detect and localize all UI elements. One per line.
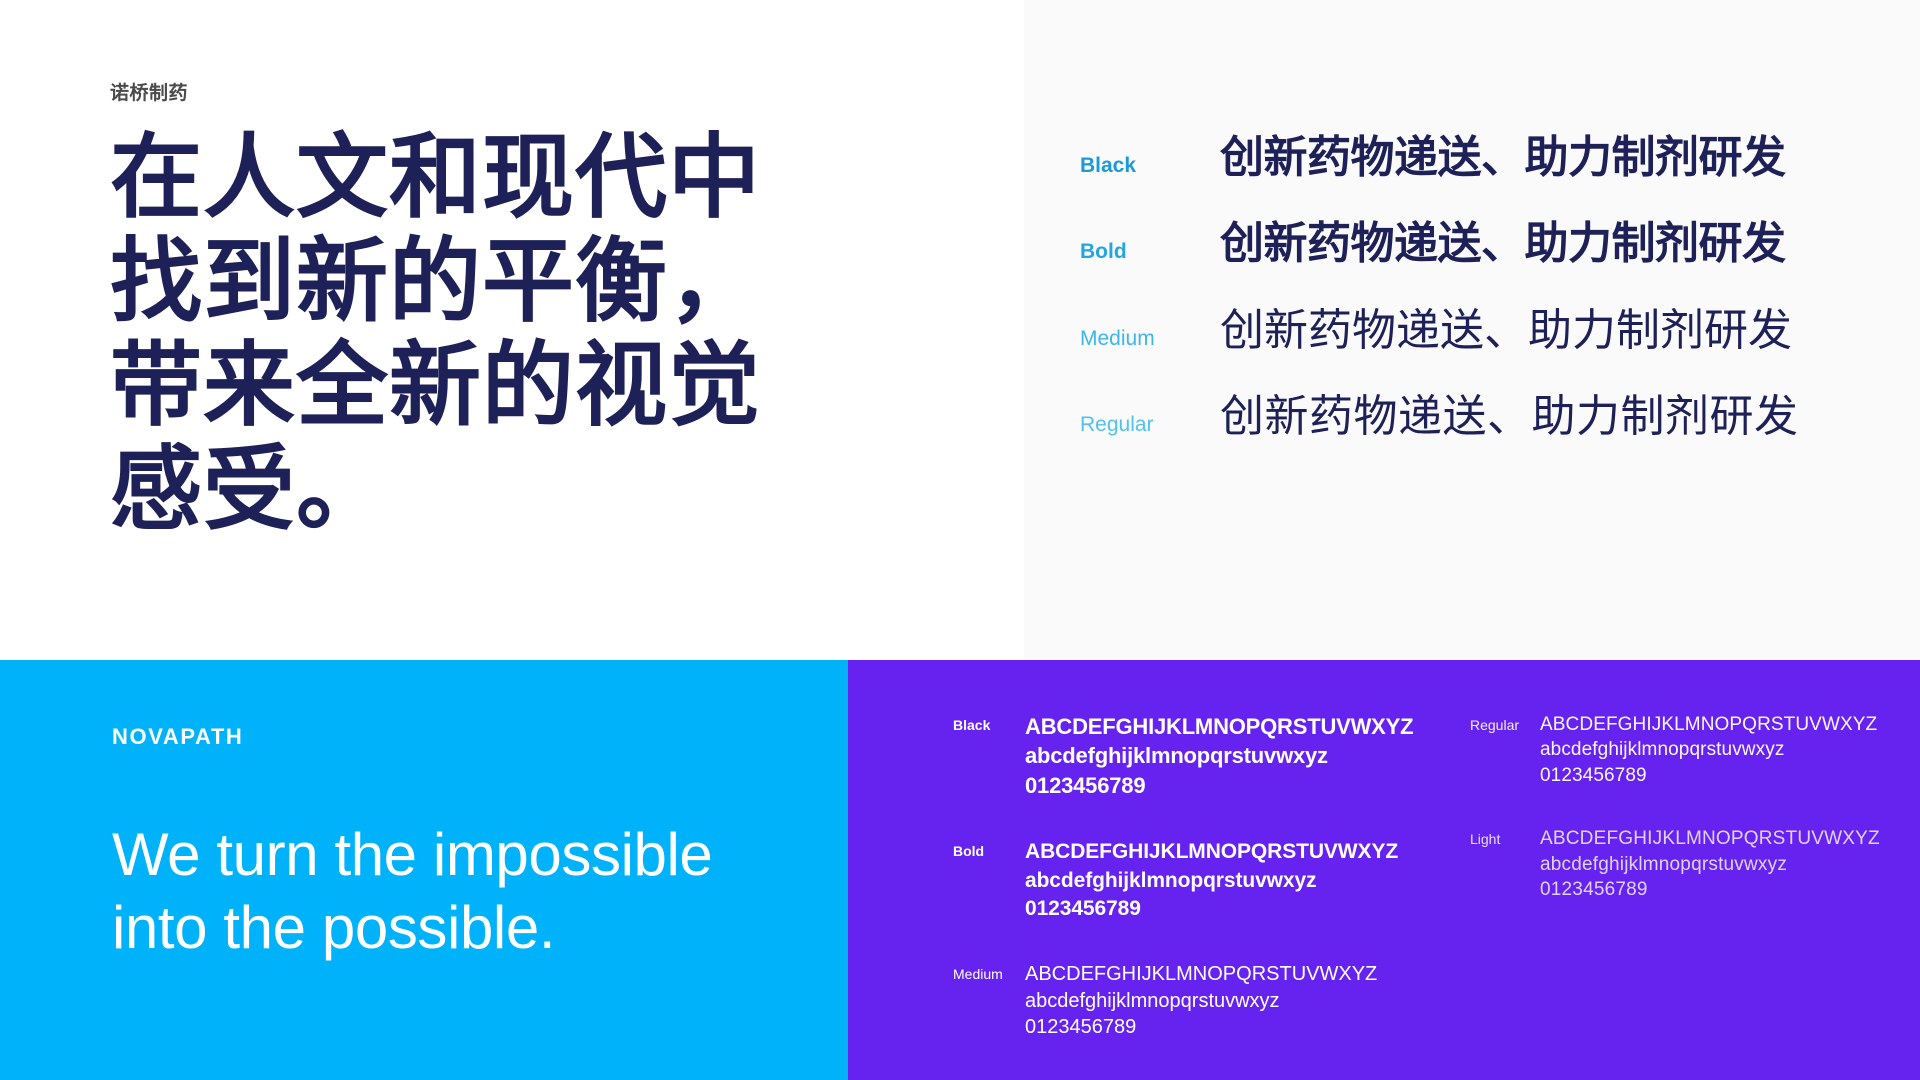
slogan-panel: NOVAPATH We turn the impossible into the… (0, 660, 848, 1080)
latin-uppercase-black: ABCDEFGHIJKLMNOPQRSTUVWXYZ (1025, 712, 1413, 741)
cjk-specimen-bold: 创新药物递送、助力制剂研发 (1220, 216, 1786, 272)
latin-specimen-regular: ABCDEFGHIJKLMNOPQRSTUVWXYZ abcdefghijklm… (1540, 712, 1877, 788)
latin-lowercase-black: abcdefghijklmnopqrstuvwxyz (1025, 741, 1413, 770)
brand-typography-board: 诺桥制药 在人文和现代中找到新的平衡，带来全新的视觉感受。 Black 创新药物… (0, 0, 1920, 1080)
latin-specimen-black: ABCDEFGHIJKLMNOPQRSTUVWXYZ abcdefghijklm… (1025, 712, 1413, 800)
cjk-weight-row-medium: Medium 创新药物递送、助力制剂研发 (1024, 303, 1920, 359)
latin-digits-black: 0123456789 (1025, 771, 1413, 800)
cjk-weight-row-black: Black 创新药物递送、助力制剂研发 (1024, 130, 1920, 186)
latin-specimen-bold: ABCDEFGHIJKLMNOPQRSTUVWXYZ abcdefghijklm… (1025, 838, 1398, 922)
latin-uppercase-medium: ABCDEFGHIJKLMNOPQRSTUVWXYZ (1025, 961, 1377, 988)
latin-specimen-medium: ABCDEFGHIJKLMNOPQRSTUVWXYZ abcdefghijklm… (1025, 961, 1377, 1041)
latin-digits-medium: 0123456789 (1025, 1014, 1377, 1041)
latin-column-right: Regular ABCDEFGHIJKLMNOPQRSTUVWXYZ abcde… (1460, 712, 1920, 1080)
latin-specimen-light: ABCDEFGHIJKLMNOPQRSTUVWXYZ abcdefghijklm… (1540, 826, 1880, 902)
latin-weight-row-bold: Bold ABCDEFGHIJKLMNOPQRSTUVWXYZ abcdefgh… (953, 838, 1460, 922)
cjk-weight-label-regular: Regular (1080, 413, 1220, 437)
latin-uppercase-bold: ABCDEFGHIJKLMNOPQRSTUVWXYZ (1025, 838, 1398, 866)
latin-weight-label-regular: Regular (1470, 712, 1540, 733)
latin-digits-regular: 0123456789 (1540, 763, 1877, 788)
cjk-weight-label-medium: Medium (1080, 327, 1220, 351)
latin-column-left: Black ABCDEFGHIJKLMNOPQRSTUVWXYZ abcdefg… (848, 712, 1460, 1080)
latin-weight-label-black: Black (953, 712, 1025, 733)
cjk-weight-label-black: Black (1080, 154, 1220, 178)
cjk-weight-label-bold: Bold (1080, 240, 1220, 264)
cjk-specimen-medium: 创新药物递送、助力制剂研发 (1220, 303, 1792, 359)
chinese-headline: 在人文和现代中找到新的平衡，带来全新的视觉感受。 (110, 127, 810, 543)
latin-uppercase-regular: ABCDEFGHIJKLMNOPQRSTUVWXYZ (1540, 712, 1877, 737)
cjk-weight-row-regular: Regular 创新药物递送、助力制剂研发 (1024, 389, 1920, 445)
cjk-specimen-black: 创新药物递送、助力制剂研发 (1220, 130, 1786, 186)
latin-weight-label-light: Light (1470, 826, 1540, 847)
latin-lowercase-medium: abcdefghijklmnopqrstuvwxyz (1025, 988, 1377, 1015)
latin-weight-row-regular: Regular ABCDEFGHIJKLMNOPQRSTUVWXYZ abcde… (1470, 712, 1920, 788)
chinese-weight-specimen-panel: Black 创新药物递送、助力制剂研发 Bold 创新药物递送、助力制剂研发 M… (1024, 0, 1920, 660)
latin-lowercase-light: abcdefghijklmnopqrstuvwxyz (1540, 852, 1880, 877)
latin-weight-row-medium: Medium ABCDEFGHIJKLMNOPQRSTUVWXYZ abcdef… (953, 961, 1460, 1041)
latin-weight-label-medium: Medium (953, 961, 1025, 982)
brand-eyebrow: 诺桥制药 (110, 78, 934, 105)
latin-weight-row-light: Light ABCDEFGHIJKLMNOPQRSTUVWXYZ abcdefg… (1470, 826, 1920, 902)
latin-lowercase-bold: abcdefghijklmnopqrstuvwxyz (1025, 867, 1398, 895)
cjk-specimen-regular: 创新药物递送、助力制剂研发 (1220, 389, 1799, 445)
novapath-wordmark: NOVAPATH (112, 724, 768, 750)
latin-uppercase-light: ABCDEFGHIJKLMNOPQRSTUVWXYZ (1540, 826, 1880, 851)
chinese-headline-panel: 诺桥制药 在人文和现代中找到新的平衡，带来全新的视觉感受。 (0, 0, 1024, 660)
latin-digits-bold: 0123456789 (1025, 895, 1398, 923)
slogan-text: We turn the impossible into the possible… (112, 818, 768, 964)
cjk-weight-row-bold: Bold 创新药物递送、助力制剂研发 (1024, 216, 1920, 272)
latin-specimen-panel: Black ABCDEFGHIJKLMNOPQRSTUVWXYZ abcdefg… (848, 660, 1920, 1080)
latin-weight-label-bold: Bold (953, 838, 1025, 859)
latin-digits-light: 0123456789 (1540, 877, 1880, 902)
latin-weight-row-black: Black ABCDEFGHIJKLMNOPQRSTUVWXYZ abcdefg… (953, 712, 1460, 800)
latin-lowercase-regular: abcdefghijklmnopqrstuvwxyz (1540, 737, 1877, 762)
